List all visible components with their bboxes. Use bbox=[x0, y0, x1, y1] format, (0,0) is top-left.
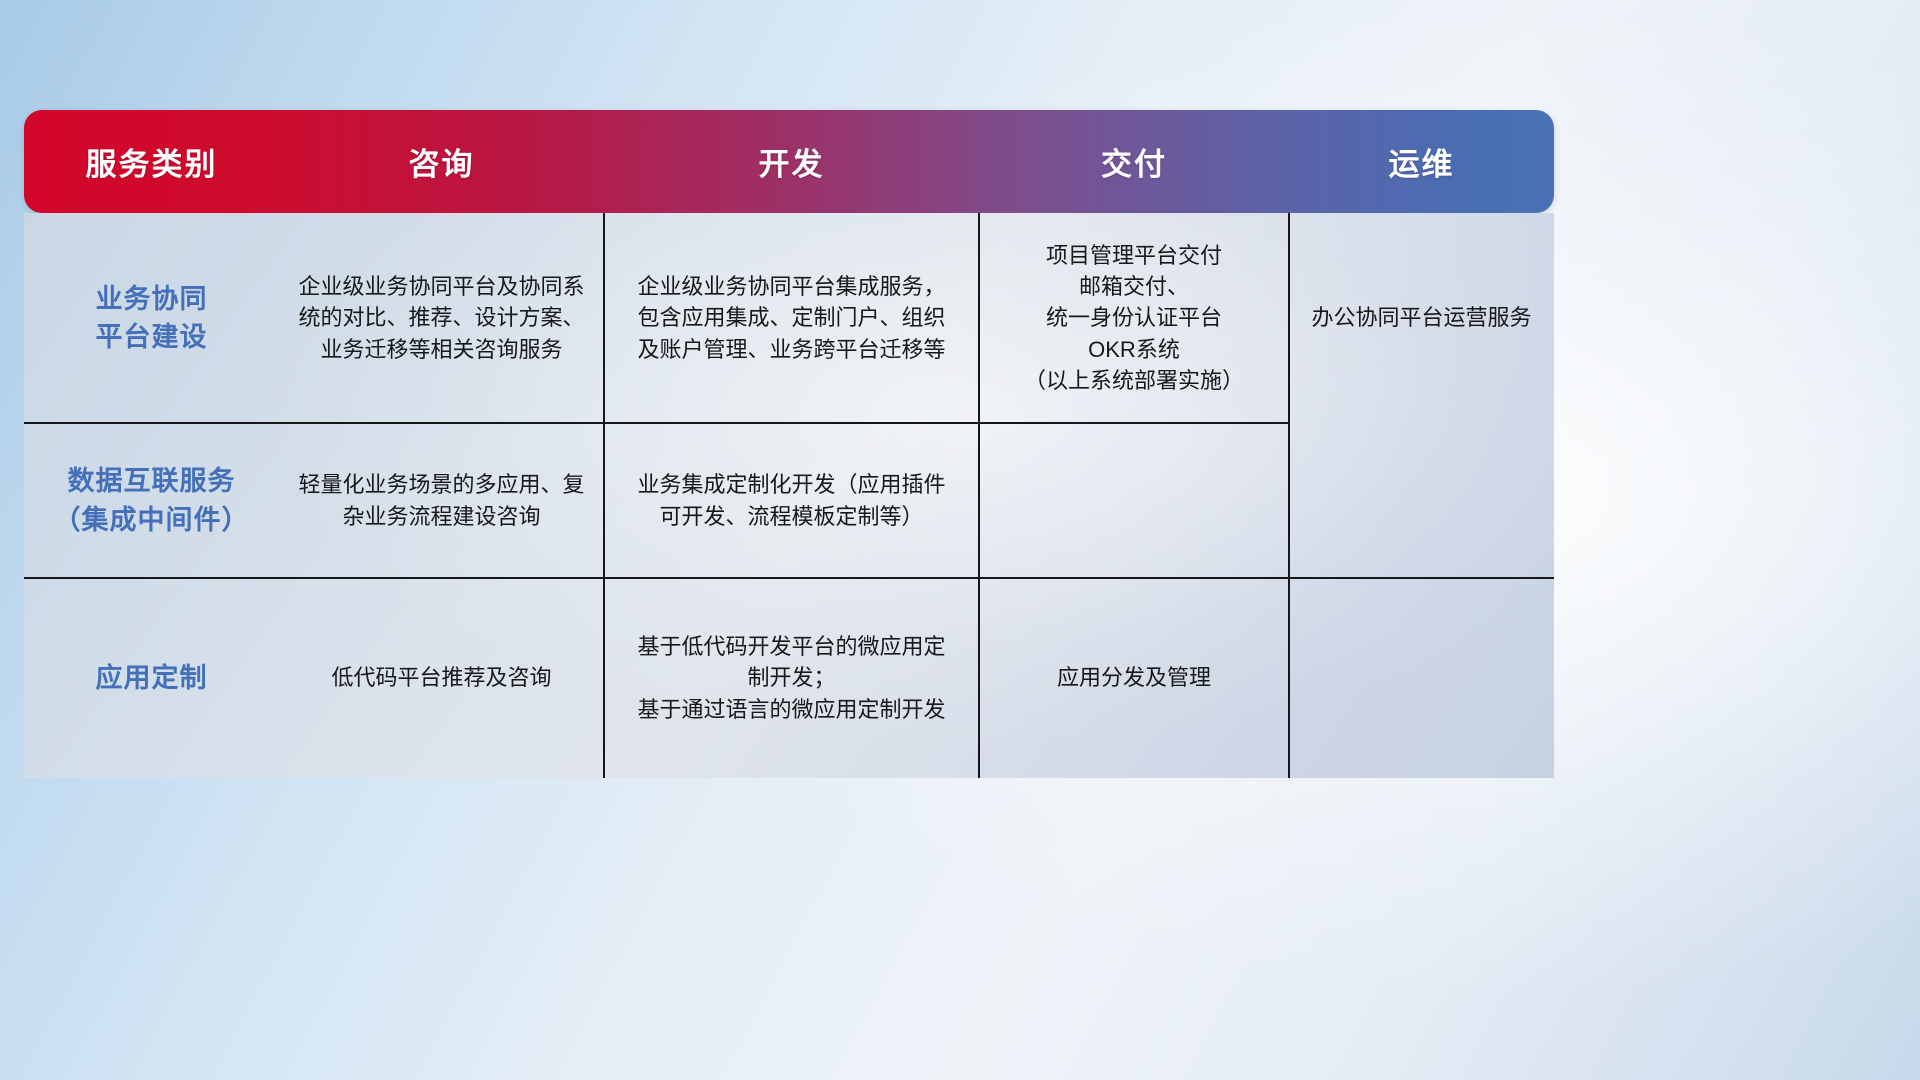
table-header-row: 服务类别 咨询 开发 交付 运维 bbox=[24, 110, 1554, 213]
table-row: 数据互联服务 （集成中间件） 轻量化业务场景的多应用、复 杂业务流程建设咨询 业… bbox=[24, 423, 1554, 578]
cell-category: 数据互联服务 （集成中间件） bbox=[24, 423, 279, 578]
column-divider-1 bbox=[603, 213, 605, 778]
cell-text: 业务集成定制化开发（应用插件 可开发、流程模板定制等） bbox=[637, 469, 945, 531]
service-category-table: 服务类别 咨询 开发 交付 运维 业务协同 平台建设 企业级业务协同平台及协同系… bbox=[24, 110, 1554, 778]
column-header-consulting: 咨询 bbox=[279, 139, 604, 184]
column-header-operations: 运维 bbox=[1289, 139, 1554, 184]
cell-operations: 办公协同平台运营服务 bbox=[1289, 213, 1554, 423]
row-divider-1 bbox=[24, 422, 1288, 424]
cell-operations bbox=[1289, 423, 1554, 578]
cell-development: 业务集成定制化开发（应用插件 可开发、流程模板定制等） bbox=[604, 423, 979, 578]
column-divider-3 bbox=[1288, 213, 1290, 778]
category-label: 应用定制 bbox=[96, 659, 208, 697]
table-row: 业务协同 平台建设 企业级业务协同平台及协同系 统的对比、推荐、设计方案、 业务… bbox=[24, 213, 1554, 423]
cell-operations bbox=[1289, 578, 1554, 778]
cell-text: 企业级业务协同平台集成服务， 包含应用集成、定制门户、组织 及账户管理、业务跨平… bbox=[637, 271, 945, 365]
cell-delivery: 项目管理平台交付 邮箱交付、 统一身份认证平台 OKR系统 （以上系统部署实施） bbox=[979, 213, 1289, 423]
cell-text: 轻量化业务场景的多应用、复 杂业务流程建设咨询 bbox=[298, 469, 584, 531]
column-header-development: 开发 bbox=[604, 139, 979, 184]
row-divider-2 bbox=[24, 577, 1554, 579]
cell-consulting: 企业级业务协同平台及协同系 统的对比、推荐、设计方案、 业务迁移等相关咨询服务 bbox=[279, 213, 604, 423]
category-label: 业务协同 平台建设 bbox=[96, 280, 208, 357]
cell-text: 基于低代码开发平台的微应用定 制开发； 基于通过语言的微应用定制开发 bbox=[637, 631, 945, 725]
cell-text: 办公协同平台运营服务 bbox=[1311, 302, 1531, 333]
cell-development: 企业级业务协同平台集成服务， 包含应用集成、定制门户、组织 及账户管理、业务跨平… bbox=[604, 213, 979, 423]
slide-canvas: 服务类别 咨询 开发 交付 运维 业务协同 平台建设 企业级业务协同平台及协同系… bbox=[0, 0, 1920, 1080]
column-divider-2 bbox=[978, 213, 980, 778]
cell-text: 项目管理平台交付 邮箱交付、 统一身份认证平台 OKR系统 （以上系统部署实施） bbox=[1024, 240, 1244, 396]
cell-text: 企业级业务协同平台及协同系 统的对比、推荐、设计方案、 业务迁移等相关咨询服务 bbox=[298, 271, 584, 365]
table-body: 业务协同 平台建设 企业级业务协同平台及协同系 统的对比、推荐、设计方案、 业务… bbox=[24, 213, 1554, 778]
category-label: 数据互联服务 （集成中间件） bbox=[54, 462, 250, 539]
cell-consulting: 低代码平台推荐及咨询 bbox=[279, 578, 604, 778]
cell-text: 应用分发及管理 bbox=[1057, 662, 1211, 693]
cell-text: 低代码平台推荐及咨询 bbox=[331, 662, 551, 693]
cell-development: 基于低代码开发平台的微应用定 制开发； 基于通过语言的微应用定制开发 bbox=[604, 578, 979, 778]
column-header-category: 服务类别 bbox=[24, 139, 279, 184]
column-header-delivery: 交付 bbox=[979, 139, 1289, 184]
cell-delivery: 应用分发及管理 bbox=[979, 578, 1289, 778]
cell-category: 业务协同 平台建设 bbox=[24, 213, 279, 423]
table-row: 应用定制 低代码平台推荐及咨询 基于低代码开发平台的微应用定 制开发； 基于通过… bbox=[24, 578, 1554, 778]
cell-category: 应用定制 bbox=[24, 578, 279, 778]
cell-delivery bbox=[979, 423, 1289, 578]
cell-consulting: 轻量化业务场景的多应用、复 杂业务流程建设咨询 bbox=[279, 423, 604, 578]
